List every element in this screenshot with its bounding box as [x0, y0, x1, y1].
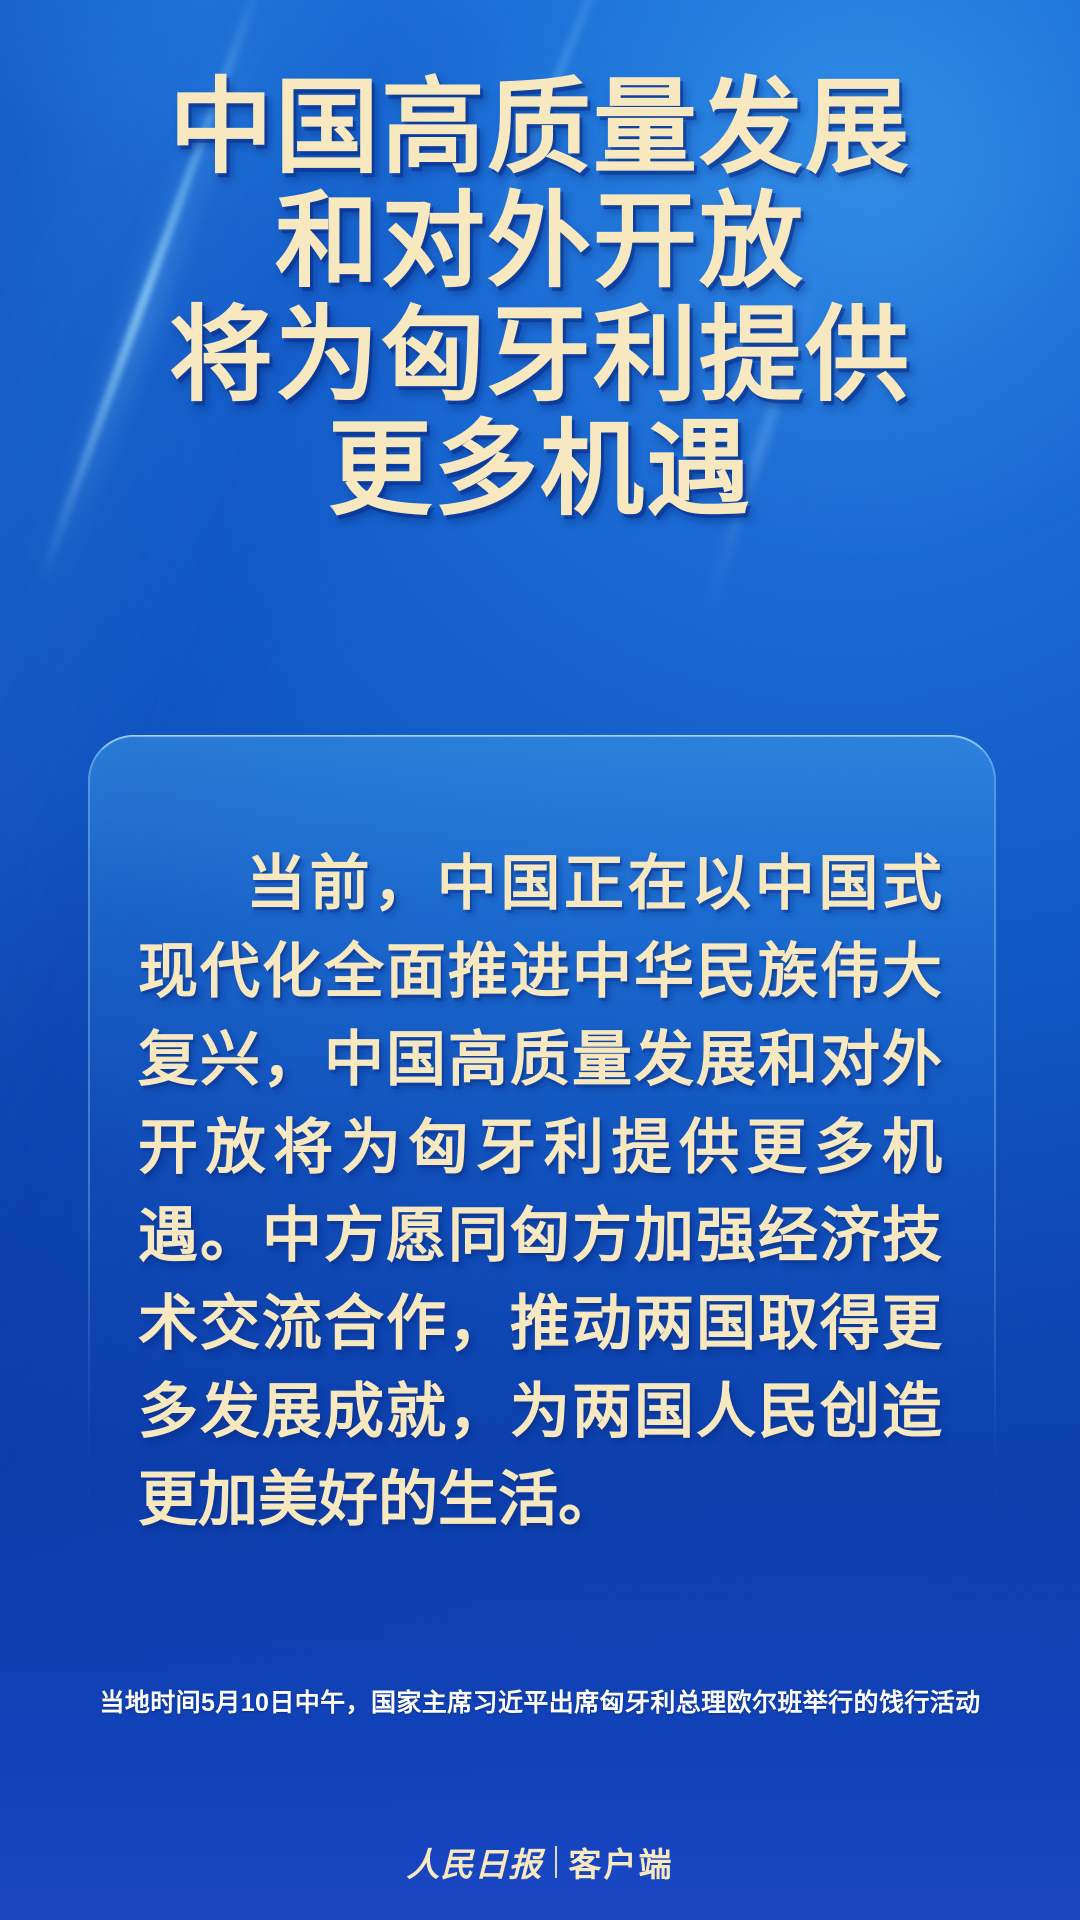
title-line-4: 更多机遇 — [0, 414, 1080, 528]
title-line-2: 和对外开放 — [0, 186, 1080, 300]
title-line-3: 将为匈牙利提供 — [0, 300, 1080, 414]
logo-divider-icon — [555, 1846, 557, 1878]
brand-name-label: 人民日报 — [407, 1838, 543, 1886]
quote-body-text: 当前，中国正在以中国式现代化全面推进中华民族伟大复兴，中国高质量发展和对外开放将… — [138, 840, 942, 1544]
page-title: 中国高质量发展 和对外开放 将为匈牙利提供 更多机遇 — [0, 72, 1080, 528]
title-line-1: 中国高质量发展 — [0, 72, 1080, 186]
photo-caption: 当地时间5月10日中午，国家主席习近平出席匈牙利总理欧尔班举行的饯行活动 — [0, 1683, 1080, 1719]
product-name-label: 客户端 — [569, 1838, 674, 1886]
news-poster: 中国高质量发展 和对外开放 将为匈牙利提供 更多机遇 当前，中国正在以中国式现代… — [0, 0, 1080, 1920]
footer-logo: 人民日报 客户端 — [0, 1838, 1080, 1886]
